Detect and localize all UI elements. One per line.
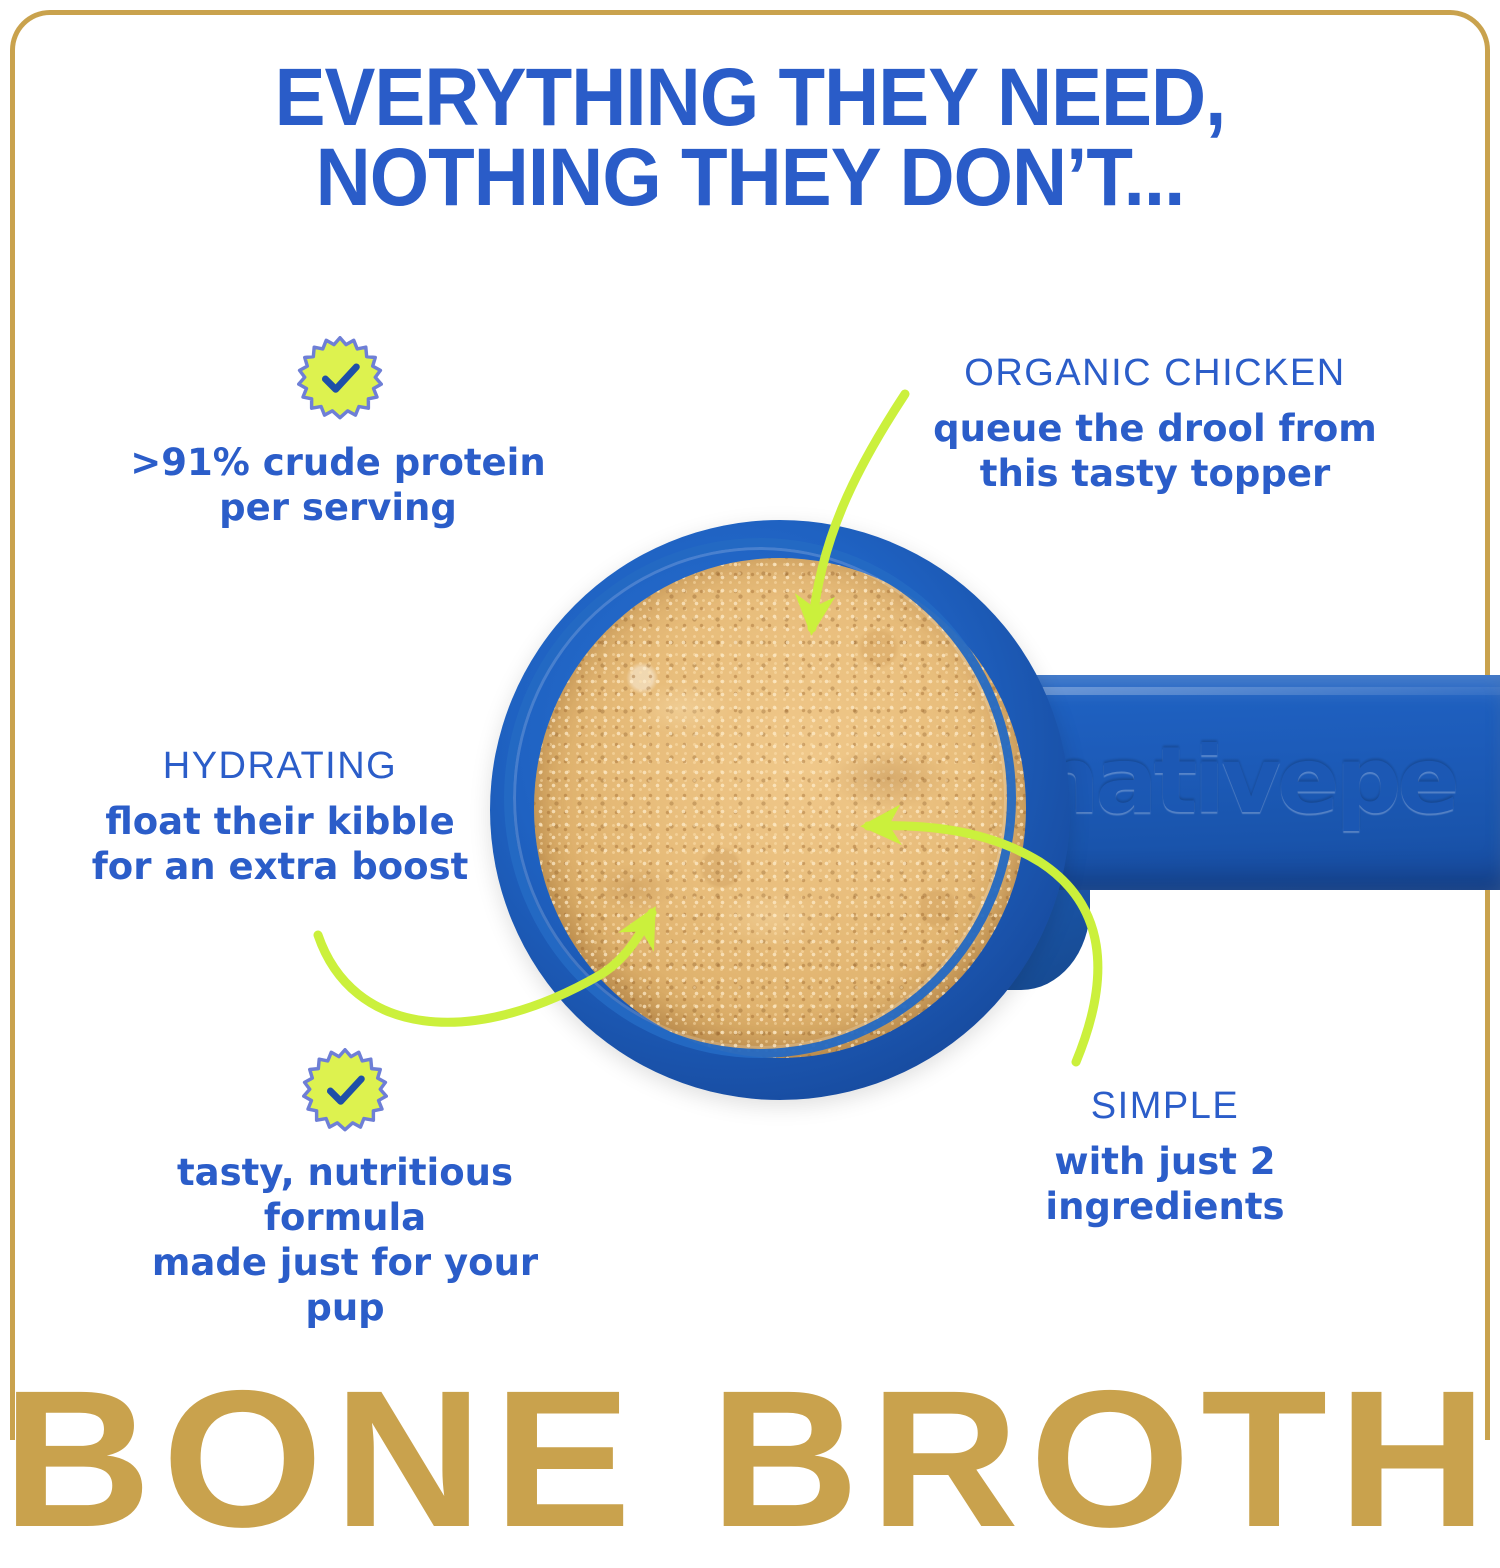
feature-protein-body: >91% crude protein per serving — [128, 440, 548, 530]
check-badge-icon — [297, 336, 383, 422]
feature-simple: SIMPLE with just 2 ingredients — [950, 1085, 1380, 1229]
powder-clump-shading — [534, 558, 1026, 1058]
scoop-bowl — [490, 520, 1070, 1100]
feature-protein: >91% crude protein per serving — [128, 430, 548, 530]
feature-simple-heading: SIMPLE — [950, 1085, 1380, 1129]
feature-simple-body: with just 2 ingredients — [950, 1139, 1380, 1229]
feature-organic-chicken-heading: ORGANIC CHICKEN — [905, 352, 1405, 396]
feature-organic-chicken-body: queue the drool from this tasty topper — [905, 406, 1405, 496]
page-title: EVERYTHING THEY NEED, NOTHING THEY DON’T… — [53, 58, 1448, 219]
native-pet-embossed-logo: nativepe — [1034, 727, 1456, 834]
feature-hydrating-heading: HYDRATING — [70, 745, 490, 789]
feature-tasty-formula-body: tasty, nutritious formula made just for … — [110, 1150, 580, 1331]
feature-tasty-formula: tasty, nutritious formula made just for … — [110, 1140, 580, 1331]
feature-hydrating-body: float their kibble for an extra boost — [70, 799, 490, 889]
bone-broth-powder — [534, 558, 1026, 1058]
headline-line-1: EVERYTHING THEY NEED, — [275, 52, 1226, 143]
headline-line-2: NOTHING THEY DON’T... — [53, 138, 1448, 218]
feature-organic-chicken: ORGANIC CHICKEN queue the drool from thi… — [905, 352, 1405, 496]
scoop-handle: nativepe — [1010, 675, 1500, 890]
product-wordmark: BONE BROTH — [0, 1362, 1500, 1557]
product-photo-measuring-scoop: nativepe — [470, 510, 1500, 1110]
feature-hydrating: HYDRATING float their kibble for an extr… — [70, 745, 490, 889]
check-badge-icon — [302, 1048, 388, 1134]
